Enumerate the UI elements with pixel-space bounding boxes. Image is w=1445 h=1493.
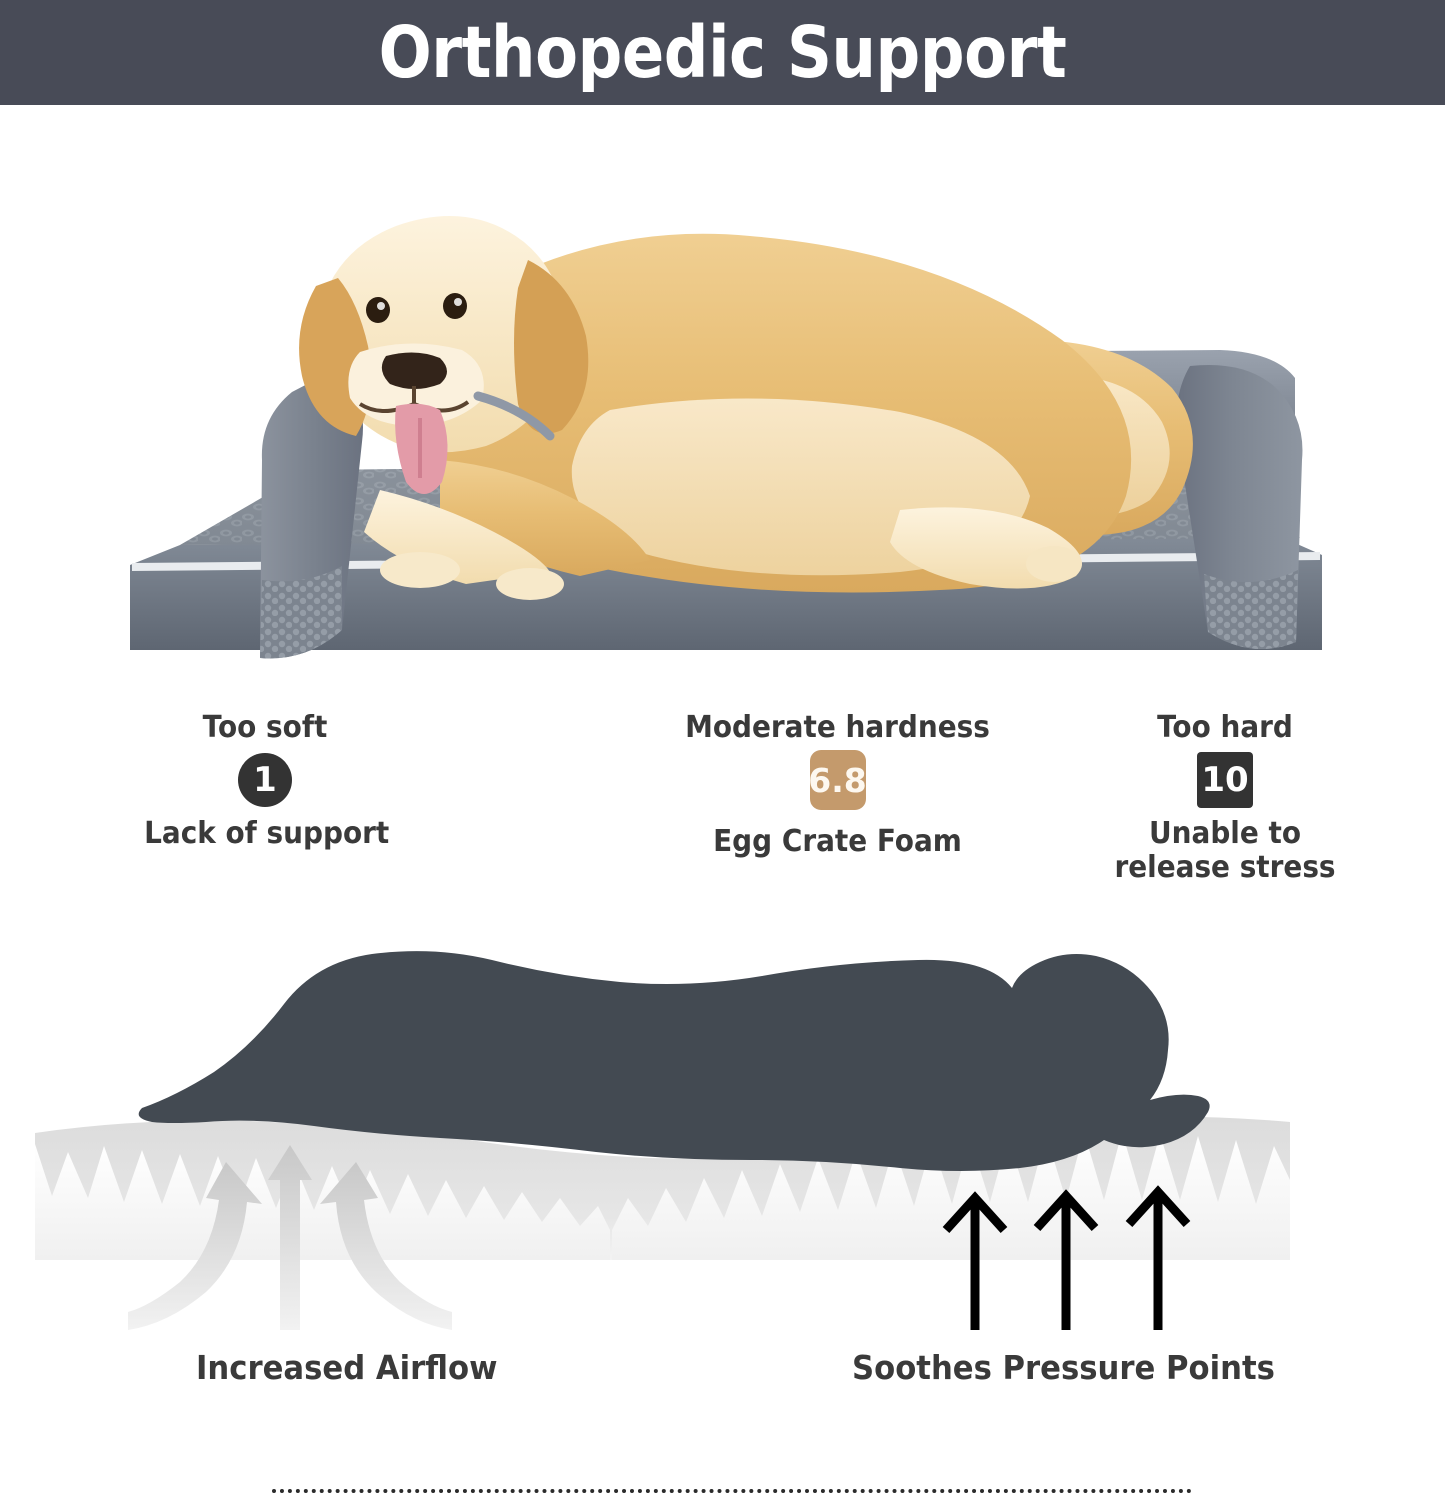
hardness-point-too-hard: Too hard 10 Unable to release stress bbox=[1095, 710, 1355, 884]
foam-diagram-illustration bbox=[0, 930, 1445, 1330]
hardness-bottom-label-3: Unable to release stress bbox=[1104, 817, 1346, 884]
hardness-point-moderate: Moderate hardness 6.8 Egg Crate Foam bbox=[650, 710, 1025, 859]
hardness-top-label-2: Moderate hardness bbox=[663, 710, 1012, 745]
product-photo-illustration bbox=[110, 160, 1350, 680]
hardness-scale-line bbox=[272, 1489, 1192, 1493]
hardness-marker-1: 1 bbox=[238, 753, 292, 807]
hardness-bottom-label-3-line2: release stress bbox=[1104, 851, 1346, 885]
hardness-top-label-1: Too soft bbox=[144, 710, 386, 745]
page-title: Orthopedic Support bbox=[87, 0, 1359, 105]
foam-cross-section-diagram bbox=[0, 930, 1445, 1330]
pressure-arrow-1 bbox=[946, 1198, 1004, 1330]
hardness-scale: Too soft 1 Lack of support Moderate hard… bbox=[0, 700, 1445, 900]
hardness-bottom-label-2: Egg Crate Foam bbox=[663, 825, 1012, 859]
hardness-top-label-3: Too hard bbox=[1104, 710, 1346, 745]
hardness-point-too-soft: Too soft 1 Lack of support bbox=[135, 710, 395, 851]
caption-increased-airflow: Increased Airflow bbox=[196, 1348, 497, 1387]
hardness-marker-row-1: 1 bbox=[135, 751, 395, 809]
hardness-bottom-label-3-line1: Unable to bbox=[1104, 817, 1346, 851]
hardness-bottom-label-1: Lack of support bbox=[144, 817, 386, 851]
caption-soothes-pressure-points: Soothes Pressure Points bbox=[852, 1348, 1275, 1387]
pressure-arrow-3 bbox=[1129, 1192, 1187, 1330]
hardness-marker-2: 6.8 bbox=[810, 750, 866, 810]
pressure-arrow-2 bbox=[1037, 1196, 1095, 1330]
hardness-marker-row-3: 10 bbox=[1095, 751, 1355, 809]
hardness-marker-row-2: 6.8 bbox=[650, 749, 1025, 811]
hardness-marker-3: 10 bbox=[1197, 752, 1253, 808]
product-photo bbox=[110, 160, 1350, 680]
